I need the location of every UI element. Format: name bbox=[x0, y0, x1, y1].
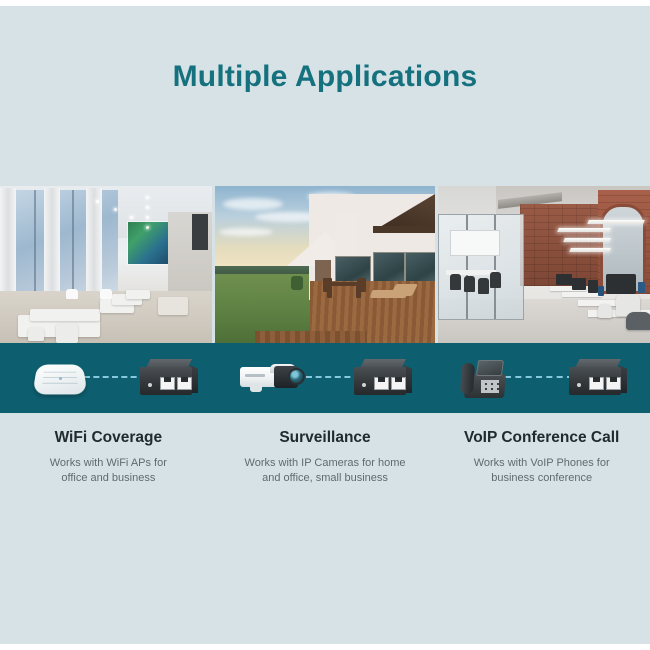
caption-description: Works with IP Cameras for home and offic… bbox=[231, 456, 420, 486]
poe-injector-icon bbox=[140, 359, 198, 397]
caption-description-line-1: Works with WiFi APs for bbox=[14, 456, 203, 471]
application-photo-strip bbox=[0, 186, 650, 343]
caption-description-line-2: and office, small business bbox=[231, 471, 420, 486]
voip-desk-phone-icon bbox=[461, 358, 511, 398]
caption-title: Surveillance bbox=[231, 429, 420, 447]
caption-title: VoIP Conference Call bbox=[447, 429, 636, 447]
dashed-ethernet-link-icon bbox=[505, 376, 573, 378]
caption-description-line-1: Works with VoIP Phones for bbox=[447, 456, 636, 471]
bottom-edge-strip bbox=[0, 644, 650, 650]
caption-description: Works with WiFi APs for office and busin… bbox=[14, 456, 203, 486]
poe-injector-icon bbox=[569, 359, 627, 397]
scene-ip-camera bbox=[216, 343, 433, 413]
page-title: Multiple Applications bbox=[0, 60, 650, 94]
caption-description-line-2: business conference bbox=[447, 471, 636, 486]
caption-title: WiFi Coverage bbox=[14, 429, 203, 447]
device-diagram-band bbox=[0, 343, 650, 413]
photo-modern-office-lounge-interior bbox=[0, 186, 212, 343]
caption-surveillance: Surveillance Works with IP Cameras for h… bbox=[217, 429, 434, 486]
application-captions: WiFi Coverage Works with WiFi APs for of… bbox=[0, 429, 650, 486]
caption-voip-conference-call: VoIP Conference Call Works with VoIP Pho… bbox=[433, 429, 650, 486]
photo-open-plan-office-brick-glass bbox=[438, 186, 650, 343]
dashed-ethernet-link-icon bbox=[84, 376, 146, 378]
application-showcase-page: Multiple Applications bbox=[0, 0, 650, 650]
dashed-ethernet-link-icon bbox=[306, 376, 360, 378]
caption-description-line-1: Works with IP Cameras for home bbox=[231, 456, 420, 471]
scene-wifi-access-point bbox=[0, 343, 216, 413]
scene-voip-phone bbox=[433, 343, 650, 413]
top-edge-strip bbox=[0, 0, 650, 6]
wifi-access-point-icon bbox=[33, 360, 89, 396]
photo-house-exterior-wooden-deck-sunset bbox=[215, 186, 435, 343]
poe-injector-icon bbox=[354, 359, 412, 397]
ip-bullet-camera-icon bbox=[240, 362, 304, 392]
caption-description-line-2: office and business bbox=[14, 471, 203, 486]
caption-wifi-coverage: WiFi Coverage Works with WiFi APs for of… bbox=[0, 429, 217, 486]
caption-description: Works with VoIP Phones for business conf… bbox=[447, 456, 636, 486]
